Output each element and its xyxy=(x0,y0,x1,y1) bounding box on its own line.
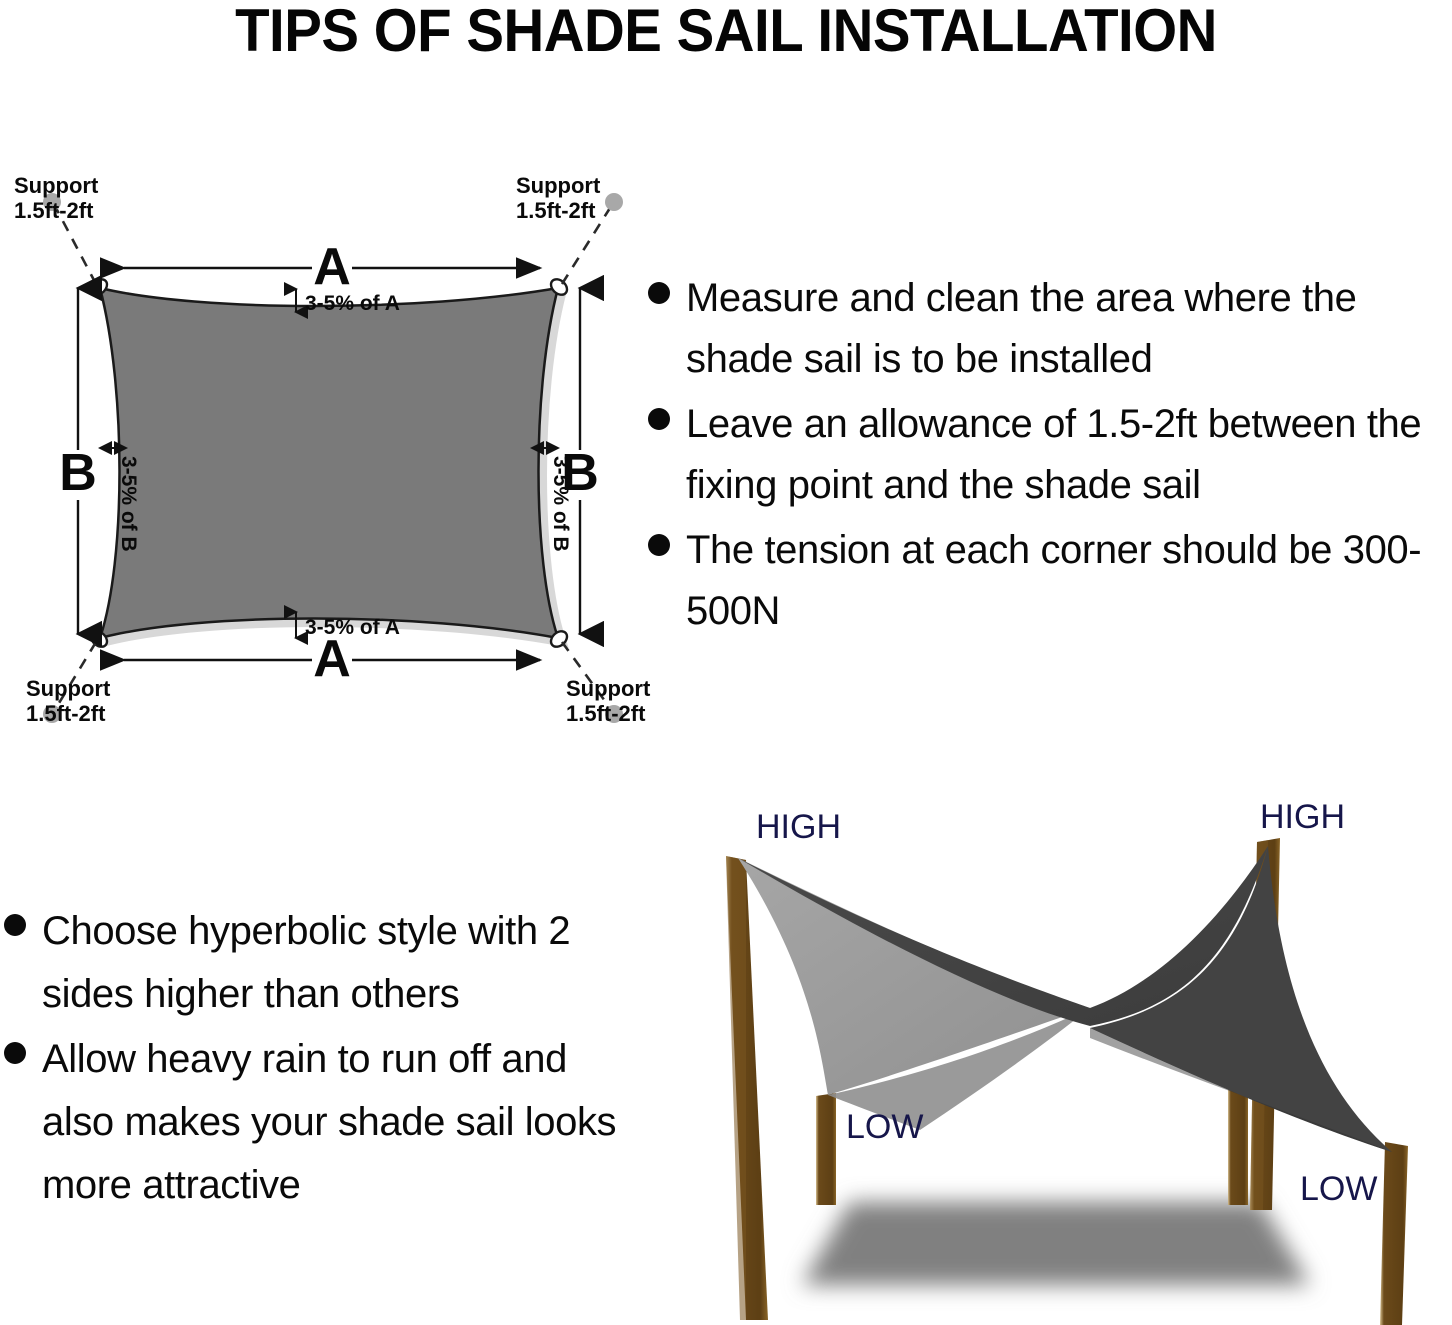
dimension-b-left-label: B xyxy=(59,444,97,502)
tip-text: The tension at each corner should be 300… xyxy=(686,520,1446,642)
installation-tips-list: Measure and clean the area where the sha… xyxy=(648,268,1452,646)
label-high-right: HIGH xyxy=(1260,798,1345,836)
label-low-left: LOW xyxy=(846,1108,923,1146)
sag-b-right-label: 3-5% of B xyxy=(549,456,572,552)
support-label-top-right-line2: 1.5ft-2ft xyxy=(516,198,596,223)
list-item: Leave an allowance of 1.5-2ft between th… xyxy=(648,394,1452,516)
support-label-bottom-left-line2: 1.5ft-2ft xyxy=(26,701,106,726)
post-low-right xyxy=(1380,1142,1408,1325)
support-label-bottom-right-line2: 1.5ft-2ft xyxy=(566,701,646,726)
support-dot-top-right xyxy=(605,193,623,211)
list-item: Measure and clean the area where the sha… xyxy=(648,268,1452,390)
sag-a-bottom-label: 3-5% of A xyxy=(305,616,400,639)
tip-text: Measure and clean the area where the sha… xyxy=(686,268,1446,390)
sag-a-top-label: 3-5% of A xyxy=(305,292,400,315)
support-label-bottom-left-line1: Support xyxy=(26,676,111,701)
support-label-top-left-line2: 1.5ft-2ft xyxy=(14,198,94,223)
shade-sail-plan-diagram: Support 1.5ft-2ft Support 1.5ft-2ft Supp… xyxy=(0,160,660,740)
hyperbolic-style-tips-list: Choose hyperbolic style with 2 sides hig… xyxy=(4,900,624,1219)
style-tip-text: Choose hyperbolic style with 2 sides hig… xyxy=(42,900,617,1026)
sail-body xyxy=(100,288,558,638)
label-high-left: HIGH xyxy=(756,808,841,846)
bullet-dot-icon xyxy=(4,914,26,936)
bullet-dot-icon xyxy=(4,1042,26,1064)
hyperbolic-shade-sail-illustration: HIGH HIGH LOW LOW xyxy=(620,790,1452,1325)
list-item: Choose hyperbolic style with 2 sides hig… xyxy=(4,900,624,1026)
page-title: TIPS OF SHADE SAIL INSTALLATION xyxy=(44,0,1409,62)
support-label-bottom-right-line1: Support xyxy=(566,676,651,701)
support-label-top-right-line1: Support xyxy=(516,173,601,198)
label-low-right: LOW xyxy=(1300,1170,1377,1208)
post-high-left xyxy=(726,856,768,1320)
post-low-left xyxy=(816,1093,836,1205)
bullet-dot-icon xyxy=(648,534,670,556)
support-label-top-left-line1: Support xyxy=(14,173,99,198)
sail-panel-light xyxy=(738,858,1090,1095)
tip-text: Leave an allowance of 1.5-2ft between th… xyxy=(686,394,1446,516)
dimension-a-top-label: A xyxy=(313,238,351,296)
style-tip-text: Allow heavy rain to run off and also mak… xyxy=(42,1028,617,1217)
bullet-dot-icon xyxy=(648,282,670,304)
sag-b-left-label: 3-5% of B xyxy=(117,456,140,552)
ground-shadow xyxy=(802,1202,1310,1285)
bullet-dot-icon xyxy=(648,408,670,430)
list-item: Allow heavy rain to run off and also mak… xyxy=(4,1028,624,1217)
list-item: The tension at each corner should be 300… xyxy=(648,520,1452,642)
